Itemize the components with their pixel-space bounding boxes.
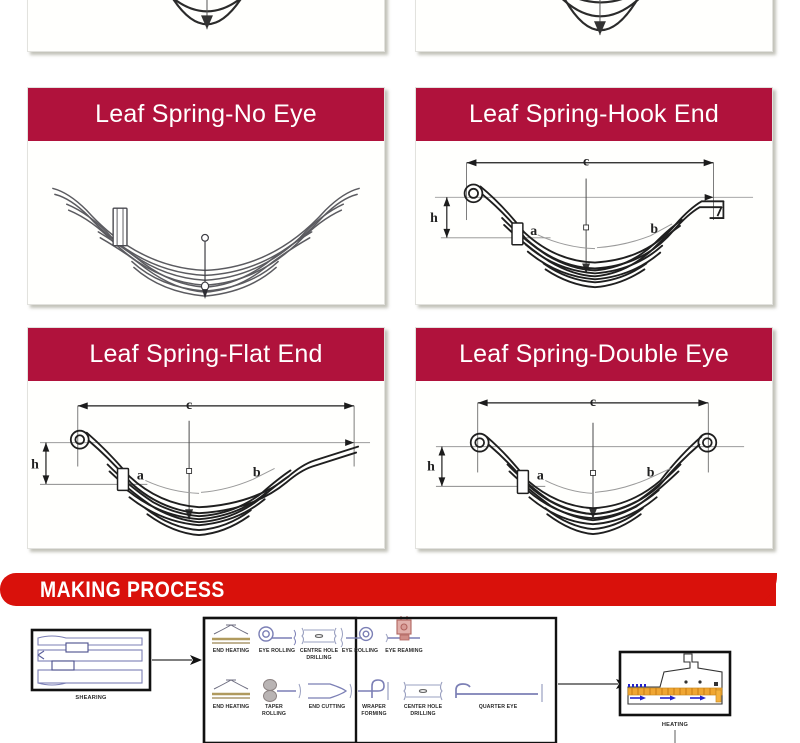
label-wraper-forming-line2: FORMING: [361, 711, 386, 717]
dimension-label-a: a: [537, 468, 544, 483]
label-wraper-forming: WRAPER: [362, 704, 386, 710]
process-step-shearing: SHEARING: [32, 630, 150, 701]
card-title-double-eye: Leaf Spring-Double Eye: [416, 328, 772, 381]
dimension-label-a: a: [137, 468, 144, 483]
icon-eye-reaming: [386, 616, 420, 642]
icon-center-hole-drilling-row2: [404, 682, 442, 700]
label-heating: HEATING: [662, 722, 688, 728]
dimension-label-a: a: [530, 223, 537, 238]
label-quarter-eye: QUARTER EYE: [479, 704, 518, 710]
label-center-hole-drilling: CENTER HOLE: [404, 704, 443, 710]
card-leaf-spring-flat-end[interactable]: Leaf Spring-Flat End c h: [27, 327, 385, 549]
process-step-heating: HEATING: [620, 652, 730, 728]
dimension-label-c: c: [583, 154, 589, 169]
dimension-label-b: b: [253, 465, 261, 480]
label-eye-rolling-1: EYE ROLLING: [259, 648, 295, 654]
card-title-no-eye: Leaf Spring-No Eye: [28, 88, 384, 141]
label-end-cutting: END CUTTING: [309, 704, 346, 710]
making-process-title: MAKING PROCESS: [40, 574, 225, 605]
card-leaf-spring-double-eye[interactable]: Leaf Spring-Double Eye c h: [415, 327, 773, 549]
diagram-leaf-spring-double-eye: c h: [416, 381, 772, 548]
card-body-double-eye: c h: [416, 381, 772, 548]
process-group-box: END HEATING EYE ROLLING CENTRE HOLE DRIL…: [204, 616, 423, 743]
label-taper-rolling: TAPER: [265, 704, 283, 710]
label-centre-hole-drilling-line2: DRILLING: [306, 655, 331, 661]
dimension-label-h: h: [427, 459, 435, 474]
partial-card-left: [27, 0, 385, 52]
label-eye-reaming: EYE REAMING: [385, 648, 422, 654]
label-center-hole-drilling-line2: DRILLING: [410, 711, 435, 717]
dimension-label-h: h: [430, 210, 438, 225]
partial-leaf-spring-diagram-left: [28, 0, 384, 51]
icon-wraper-forming: [358, 680, 388, 700]
label-shearing: SHEARING: [75, 695, 106, 701]
card-leaf-spring-hook-end[interactable]: Leaf Spring-Hook End c: [415, 87, 773, 305]
card-body-flat-end: c h: [28, 381, 384, 548]
diagram-leaf-spring-flat-end: c h: [28, 381, 384, 548]
dimension-label-b: b: [647, 465, 655, 480]
dimension-label-c: c: [590, 395, 596, 410]
label-end-heating-2: END HEATING: [213, 704, 249, 710]
label-centre-hole-drilling: CENTRE HOLE: [300, 648, 339, 654]
label-taper-rolling-line2: ROLLING: [262, 711, 286, 717]
arrow-shearing-to-group: [152, 655, 202, 665]
card-title-hook-end: Leaf Spring-Hook End: [416, 88, 772, 141]
partial-card-left-body: [28, 0, 384, 51]
dimension-label-b: b: [650, 221, 658, 236]
card-leaf-spring-no-eye[interactable]: Leaf Spring-No Eye: [27, 87, 385, 305]
making-process-flow: SHEARING END HEATING: [0, 612, 800, 743]
diagram-leaf-spring-hook-end: c h: [416, 141, 772, 304]
partial-card-right: [415, 0, 773, 52]
label-eye-rolling-2: EYE ROLLING: [342, 648, 378, 654]
card-body-no-eye: [28, 141, 384, 304]
card-body-hook-end: c h: [416, 141, 772, 304]
partial-leaf-spring-diagram-right: [416, 0, 772, 51]
card-title-flat-end: Leaf Spring-Flat End: [28, 328, 384, 381]
leaf-spring-product-page: Leaf Spring-No Eye: [0, 0, 800, 743]
icon-quarter-eye: [456, 684, 542, 702]
making-process-diagram: SHEARING END HEATING: [0, 612, 800, 743]
dimension-label-c: c: [186, 398, 192, 413]
partial-card-right-body: [416, 0, 772, 51]
label-end-heating-1: END HEATING: [213, 648, 249, 654]
diagram-leaf-spring-no-eye: [28, 141, 384, 304]
dimension-label-h: h: [31, 457, 39, 472]
